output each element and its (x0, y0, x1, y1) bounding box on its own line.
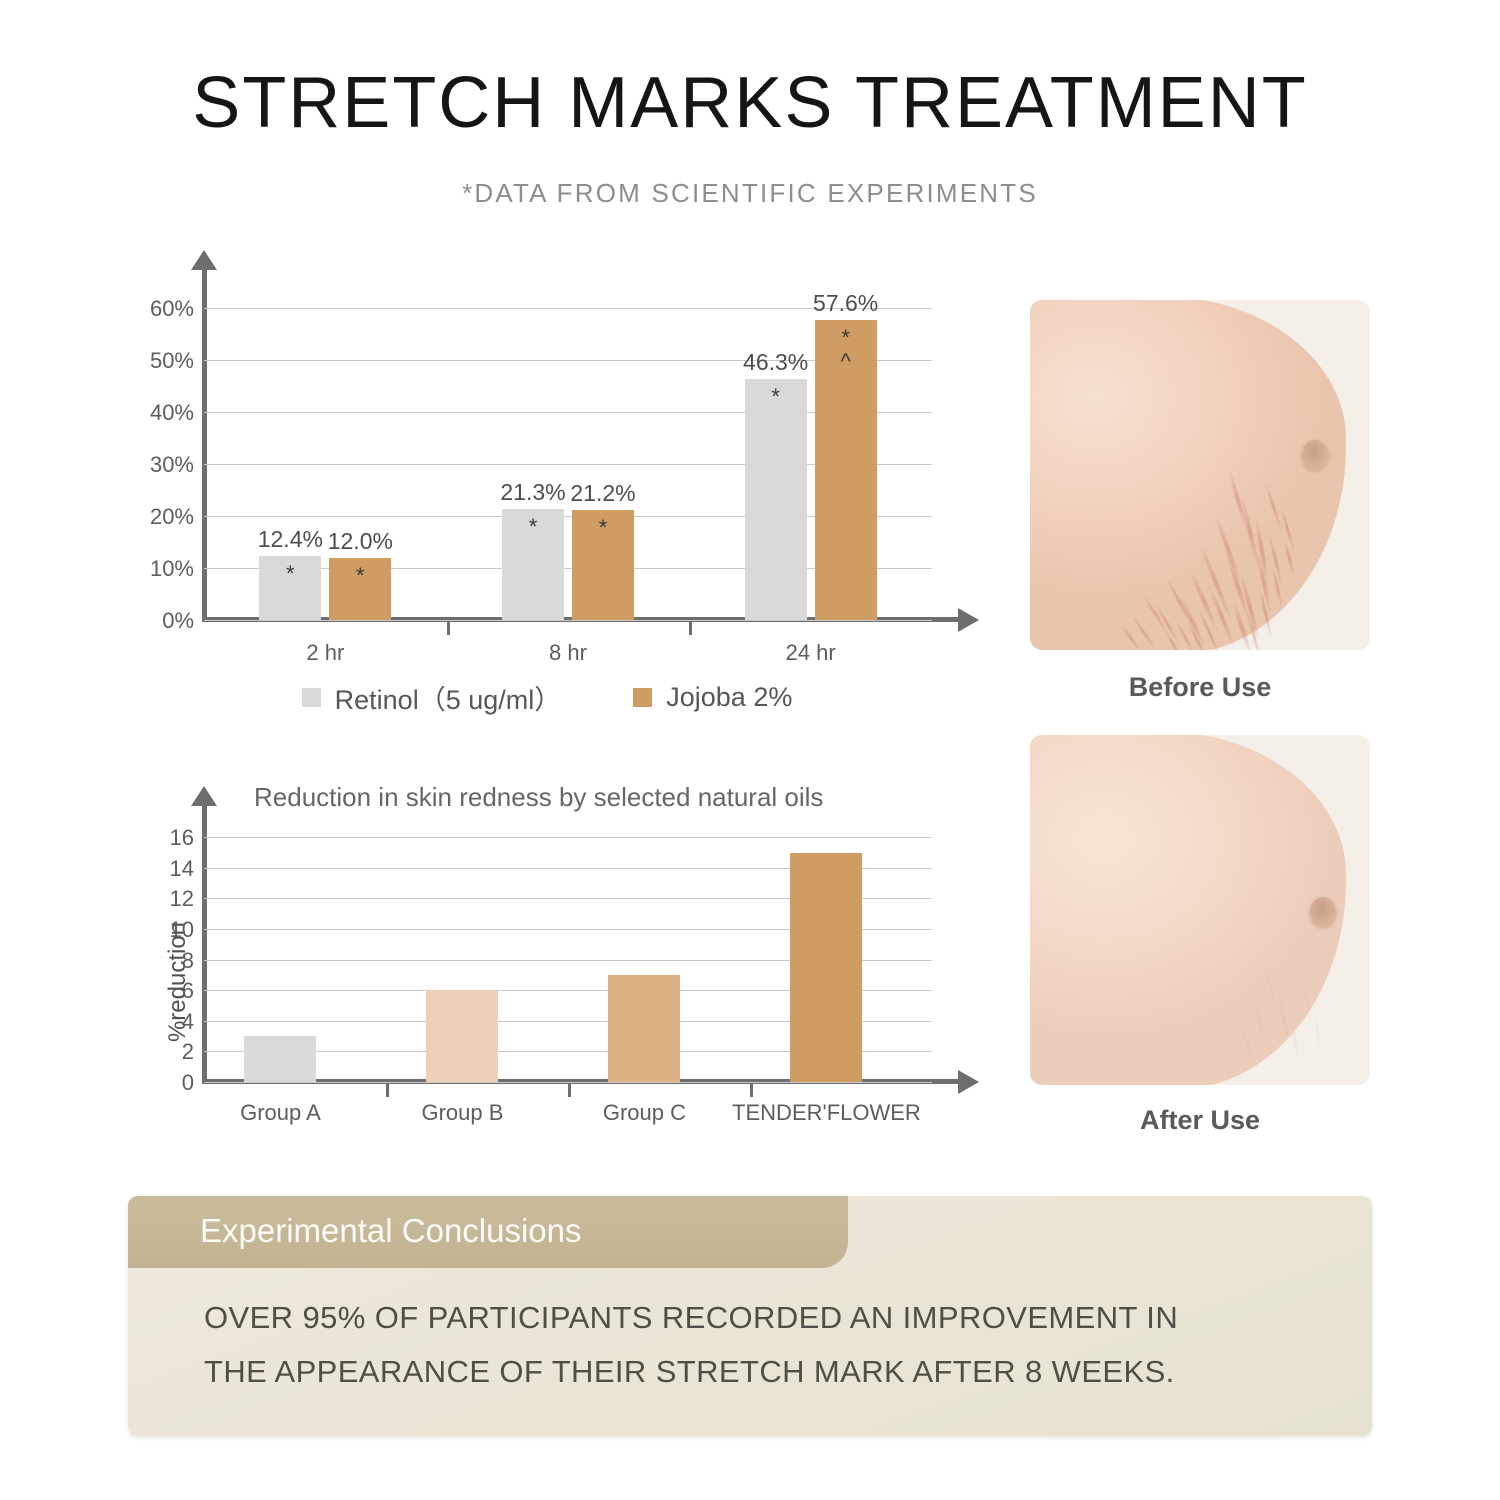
y-tick-label: 2 (140, 1039, 194, 1065)
bar-value-label: 12.0% (328, 528, 393, 558)
photo-after-image (1030, 735, 1370, 1085)
stretch-mark (1314, 1017, 1321, 1047)
chart2-plot-area: 0246810121416 (204, 822, 932, 1082)
x-tick-label: Group A (240, 1100, 321, 1126)
y-tick-label: 6 (140, 978, 194, 1004)
infographic-page: STRETCH MARKS TREATMENT *DATA FROM SCIEN… (0, 0, 1500, 1500)
x-tick-label: TENDER'FLOWER (732, 1100, 921, 1126)
significance-mark: * (771, 385, 780, 408)
y-tick-label: 10% (132, 556, 194, 582)
bar-jojoba: 57.6%*^ (815, 320, 877, 620)
significance-mark: * (529, 515, 538, 538)
gridline (204, 1082, 932, 1083)
bar-value-label: 12.4% (258, 526, 323, 556)
y-tick-label: 20% (132, 504, 194, 530)
page-subtitle: *DATA FROM SCIENTIFIC EXPERIMENTS (0, 178, 1500, 209)
y-tick-label: 10 (140, 917, 194, 943)
legend-label-retinol: Retinol（5 ug/ml） (335, 678, 562, 717)
chart-skin-redness-reduction: Reduction in skin redness by selected na… (132, 782, 962, 1162)
bar-group-c (608, 975, 680, 1082)
x-tick-mark (568, 1084, 571, 1097)
y-tick-label: 40% (132, 400, 194, 426)
legend-item-jojoba: Jojoba 2% (633, 682, 792, 713)
belly-illustration-after (1030, 735, 1346, 1085)
page-title: STRETCH MARKS TREATMENT (0, 62, 1500, 144)
navel-after (1310, 897, 1336, 927)
bar-tender-flower (790, 853, 862, 1082)
bar-value-label: 57.6% (813, 290, 878, 320)
bar-value-label: 21.3% (500, 479, 565, 509)
y-tick-label: 50% (132, 348, 194, 374)
y-tick-label: 4 (140, 1009, 194, 1035)
photo-before (1030, 300, 1370, 650)
significance-mark: * (286, 562, 295, 585)
photo-after-caption: After Use (1030, 1105, 1370, 1136)
x-tick-label: Group C (603, 1100, 686, 1126)
x-tick-label: Group B (421, 1100, 503, 1126)
y-tick-label: 12 (140, 886, 194, 912)
x-tick-mark (750, 1084, 753, 1097)
legend-swatch-retinol (302, 688, 321, 707)
photo-after (1030, 735, 1370, 1085)
bar-jojoba: 12.0%* (329, 558, 391, 620)
bar-value-label: 46.3% (743, 349, 808, 379)
chart2-y-axis-arrow-icon (191, 786, 217, 806)
x-tick-label: 8 hr (549, 640, 587, 666)
banner-text-line-1: OVER 95% OF PARTICIPANTS RECORDED AN IMP… (204, 1300, 1178, 1336)
y-tick-label: 8 (140, 948, 194, 974)
x-axis-arrow-icon (958, 608, 979, 632)
x-tick-mark (689, 622, 692, 635)
bar-group-b (426, 990, 498, 1082)
significance-mark: * (356, 564, 365, 587)
y-tick-label: 0 (140, 1070, 194, 1096)
chart1-legend: Retinol（5 ug/ml） Jojoba 2% (132, 678, 962, 717)
legend-swatch-jojoba (633, 688, 652, 707)
legend-label-jojoba: Jojoba 2% (666, 682, 792, 713)
x-tick-mark (447, 622, 450, 635)
x-tick-label: 24 hr (786, 640, 836, 666)
y-tick-label: 14 (140, 856, 194, 882)
gridline (204, 620, 932, 621)
chart2-x-axis-arrow-icon (958, 1070, 979, 1094)
chart2-title: Reduction in skin redness by selected na… (254, 782, 823, 813)
bar-jojoba: 21.2%* (572, 510, 634, 620)
x-tick-mark (386, 1084, 389, 1097)
bar-retinol: 46.3%* (745, 379, 807, 620)
banner-text-line-2: THE APPEARANCE OF THEIR STRETCH MARK AFT… (204, 1354, 1175, 1390)
significance-mark: * (599, 516, 608, 539)
y-axis-arrow-icon (191, 250, 217, 270)
bar-group-a (244, 1036, 316, 1082)
y-tick-label: 60% (132, 296, 194, 322)
significance-mark: *^ (840, 326, 850, 372)
navel-before (1302, 440, 1328, 470)
banner-heading: Experimental Conclusions (200, 1212, 582, 1250)
bar-retinol: 12.4%* (259, 556, 321, 620)
y-tick-label: 16 (140, 825, 194, 851)
bar-value-label: 21.2% (570, 480, 635, 510)
chart1-plot-area: 0%10%20%30%40%50%60%12.4%*12.0%*21.3%*21… (204, 282, 932, 620)
bar-retinol: 21.3%* (502, 509, 564, 620)
photo-before-image (1030, 300, 1370, 650)
x-tick-label: 2 hr (306, 640, 344, 666)
chart-retinol-vs-jojoba: 0%10%20%30%40%50%60%12.4%*12.0%*21.3%*21… (132, 268, 962, 668)
y-tick-label: 30% (132, 452, 194, 478)
y-tick-label: 0% (132, 608, 194, 634)
photo-before-caption: Before Use (1030, 672, 1370, 703)
gridline (204, 837, 932, 838)
legend-item-retinol: Retinol（5 ug/ml） (302, 678, 562, 717)
conclusion-banner: Experimental Conclusions OVER 95% OF PAR… (128, 1196, 1372, 1436)
belly-illustration-before (1030, 300, 1346, 650)
